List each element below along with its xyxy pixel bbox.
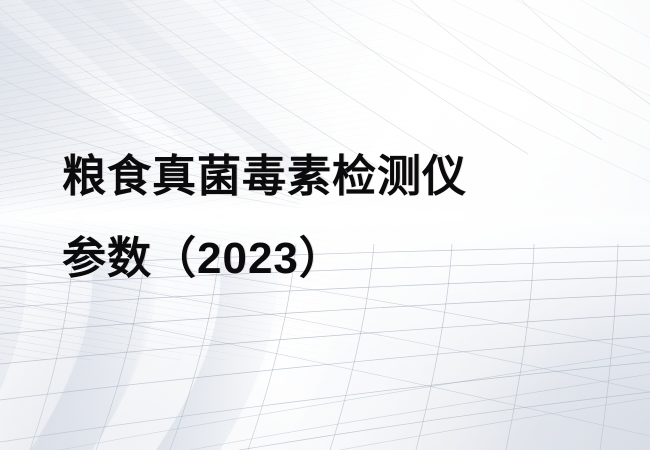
banner-headline: 粮食真菌毒素检测仪 参数（2023） bbox=[62, 136, 602, 300]
title-banner: 粮食真菌毒素检测仪 参数（2023） bbox=[0, 0, 650, 450]
headline-line-1: 粮食真菌毒素检测仪 bbox=[62, 136, 602, 218]
headline-line-2: 参数（2023） bbox=[62, 218, 602, 300]
